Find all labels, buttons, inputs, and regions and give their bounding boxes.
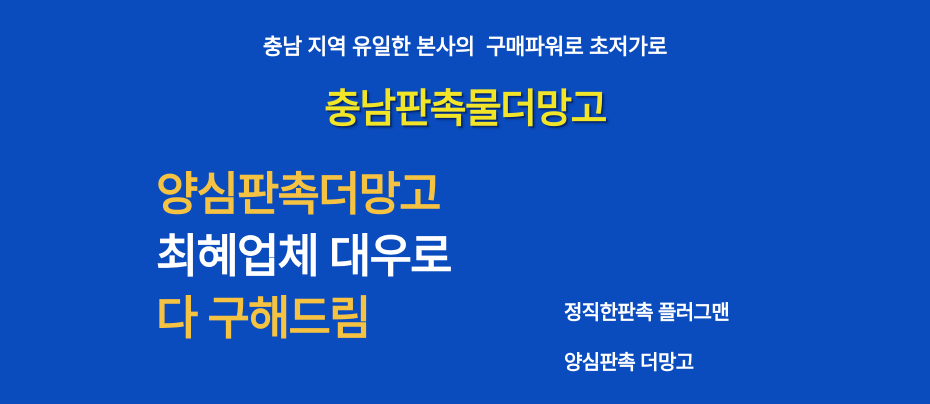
- brand-headline: 충남판촉물더망고: [0, 61, 930, 133]
- promo-banner: 충남 지역 유일한 본사의 구매파워로 초저가로 충남판촉물더망고 양심판촉더망…: [0, 0, 930, 404]
- top-text-block: 충남 지역 유일한 본사의 구매파워로 초저가로 충남판촉물더망고: [0, 34, 930, 133]
- side-text-line-1: 정직한판촉 플러그맨: [564, 288, 729, 338]
- side-text-line-2: 양심판촉 더망고: [564, 338, 729, 388]
- main-headline-line-2: 최혜업체 대우로: [156, 225, 451, 287]
- side-text-stack: 정직한판촉 플러그맨 양심판촉 더망고: [564, 288, 729, 388]
- tagline-text: 충남 지역 유일한 본사의 구매파워로 초저가로: [0, 34, 930, 61]
- main-headline-stack: 양심판촉더망고 최혜업체 대우로 다 구해드림: [156, 163, 451, 349]
- main-headline-line-3: 다 구해드림: [156, 287, 451, 349]
- main-headline-line-1: 양심판촉더망고: [156, 163, 451, 225]
